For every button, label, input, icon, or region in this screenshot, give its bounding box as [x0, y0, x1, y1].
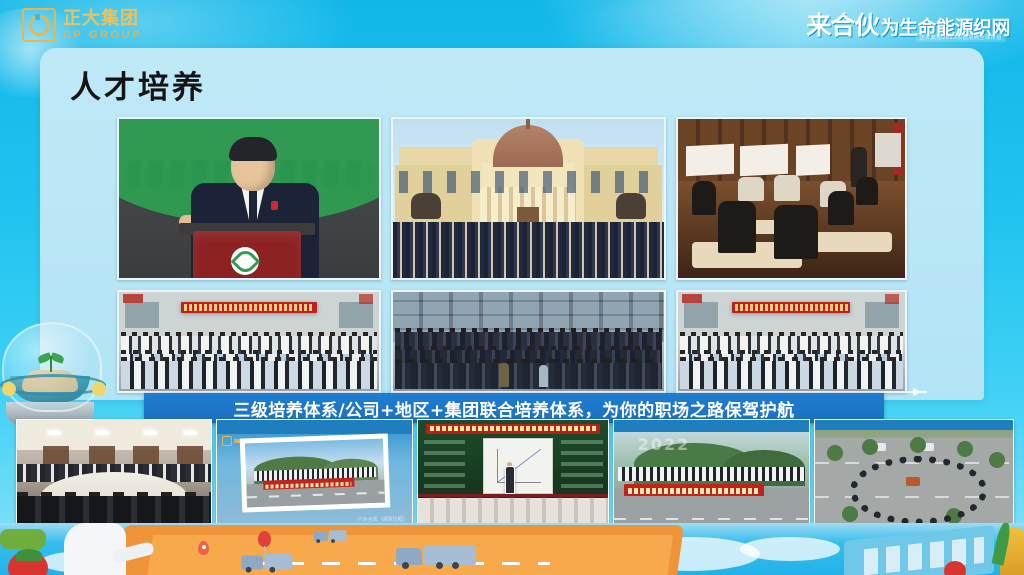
- filmstrip-aerial-circle-formation: [814, 419, 1014, 527]
- photo-team-training-conference: [117, 290, 381, 393]
- map-pin-icon: [198, 541, 209, 555]
- photo-management-trainee-group: [391, 290, 666, 393]
- cp-logo-english: CP GROUP: [63, 30, 142, 41]
- truck-illustration-large: [396, 546, 476, 565]
- filmstrip-lecture-with-chart: [417, 419, 609, 527]
- campaign-caption: 正大集团2023校园招聘全球校招: [916, 33, 1006, 42]
- airplane-icon: [907, 388, 929, 396]
- truck-illustration-mid: [242, 554, 293, 570]
- highlight-banner-text: 三级培养体系/公司+地区+集团联合培养体系，为你的职场之路保驾护航: [233, 396, 794, 421]
- camp-year-watermark: 2022: [638, 435, 691, 454]
- truck-illustration-small: [314, 530, 347, 540]
- photo-row-2: [117, 290, 907, 393]
- photo-grid: [117, 117, 907, 393]
- photo-graduation-group: [391, 117, 666, 280]
- illustrated-footer: [0, 523, 1024, 575]
- cp-lotus-icon: [231, 247, 259, 275]
- filmstrip-roundtable-meeting: [16, 419, 212, 527]
- tomato-illustration-right: [944, 561, 966, 575]
- photo-regional-training-group: [676, 290, 907, 393]
- photo-chairman-speech: [117, 117, 381, 280]
- photo-training-workshop: [676, 117, 907, 280]
- cp-logo-chinese: 正大集团: [63, 10, 142, 28]
- filmstrip-camp-banner-photo: 2022: [613, 419, 809, 527]
- photo-filmstrip: 户外合影（邮票边框） 2022: [16, 419, 1014, 527]
- page-title: 人才培养: [70, 62, 206, 107]
- photo-watermark: 户外合影（邮票边框）: [358, 516, 408, 523]
- cp-square-circle-logo-icon: [22, 8, 56, 42]
- cp-group-logo: 正大集团 CP GROUP: [22, 8, 142, 42]
- filmstrip-outdoor-stamp-photo: 户外合影（邮票边框）: [216, 419, 412, 527]
- presentation-slide: 正大集团 CP GROUP 来合伙 为生命能源织网 正大集团2023校园招聘全球…: [0, 0, 1024, 575]
- photo-row-1: [117, 117, 907, 280]
- vegetable-illustration: [0, 529, 46, 549]
- campaign-main-text: 来合伙: [806, 6, 878, 42]
- balloon-icon: [258, 531, 271, 547]
